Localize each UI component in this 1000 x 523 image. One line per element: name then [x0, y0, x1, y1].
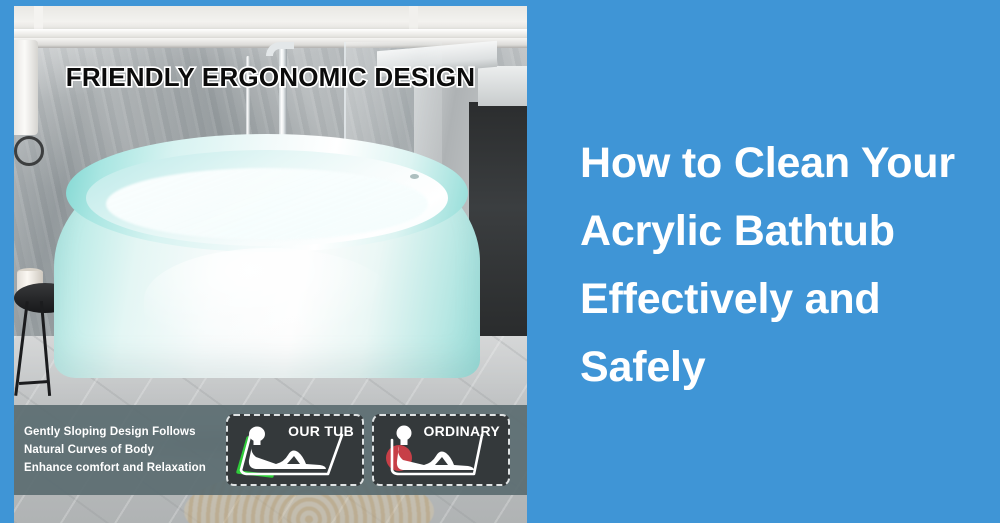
bathtub-water-surface	[106, 168, 428, 240]
article-title-line: Effectively and	[580, 265, 984, 333]
acrylic-bathtub	[54, 136, 480, 378]
comparison-card-ordinary: ORDINARY	[372, 414, 510, 486]
article-hero-banner: FRIENDLY ERGONOMIC DESIGN Gently Sloping…	[0, 0, 1000, 523]
sitting-person-ordinary-icon	[378, 424, 508, 482]
comparison-card-our-tub: OUR TUB	[226, 414, 364, 486]
product-photo: FRIENDLY ERGONOMIC DESIGN Gently Sloping…	[14, 6, 527, 523]
comparison-cards: OUR TUB	[226, 414, 510, 486]
article-title-line: Acrylic Bathtub	[580, 197, 984, 265]
feature-info-bar: Gently Sloping Design Follows Natural Cu…	[14, 405, 527, 495]
article-title-line: Safely	[580, 333, 984, 401]
feature-description-line: Gently Sloping Design Follows	[24, 423, 226, 441]
feature-description: Gently Sloping Design Follows Natural Cu…	[14, 423, 226, 477]
towel-ring-icon	[14, 136, 44, 166]
reclining-person-our-tub-icon	[232, 424, 362, 482]
photo-headline: FRIENDLY ERGONOMIC DESIGN	[14, 62, 527, 93]
feature-description-line: Natural Curves of Body	[24, 441, 226, 459]
bathtub-highlight	[144, 248, 394, 352]
article-title: How to Clean Your Acrylic Bathtub Effect…	[580, 129, 984, 401]
feature-description-line: Enhance comfort and Relaxation	[24, 459, 226, 477]
article-title-line: How to Clean Your	[580, 129, 984, 197]
overflow-drain-icon	[410, 174, 419, 179]
